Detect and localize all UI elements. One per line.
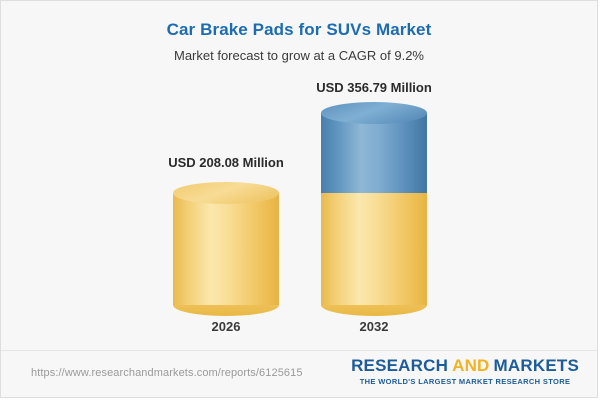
logo-word-research: RESEARCH [351,356,448,375]
cylinder-2026 [173,193,279,305]
cylinder-body-icon [321,113,427,193]
logo-tagline: THE WORLD'S LARGEST MARKET RESEARCH STOR… [351,377,579,386]
chart-title: Car Brake Pads for SUVs Market [1,19,597,41]
x-axis-tick-2032: 2032 [321,319,427,334]
chart-card: Car Brake Pads for SUVs Market Market fo… [0,0,598,398]
cylinder-top-cap-icon [321,102,427,124]
logo-word-markets: MARKETS [494,356,579,375]
x-axis-labels: 2026 2032 [1,319,597,339]
bar-value-label-2026: USD 208.08 Million [168,155,284,170]
source-url[interactable]: https://www.researchandmarkets.com/repor… [31,367,303,379]
x-axis-tick-2026: 2026 [173,319,279,334]
bar-segment-base-2026 [173,193,279,305]
chart-header: Car Brake Pads for SUVs Market Market fo… [1,1,597,65]
chart-subtitle: Market forecast to grow at a CAGR of 9.2… [1,47,597,65]
chart-plot-area: USD 208.08 Million USD 356.79 Million [1,87,597,347]
cylinder-body-icon [321,193,427,305]
cylinder-body-icon [173,193,279,305]
logo-wordmark: RESEARCHANDMARKETS [351,356,579,376]
logo-word-and: AND [452,356,489,375]
researchandmarkets-logo[interactable]: RESEARCHANDMARKETS THE WORLD'S LARGEST M… [351,356,579,386]
cylinder-top-cap-icon [173,182,279,204]
chart-footer: https://www.researchandmarkets.com/repor… [1,350,597,397]
bar-segment-growth-2032 [321,113,427,193]
bar-segment-base-2032 [321,193,427,305]
bar-value-label-2032: USD 356.79 Million [316,80,432,95]
